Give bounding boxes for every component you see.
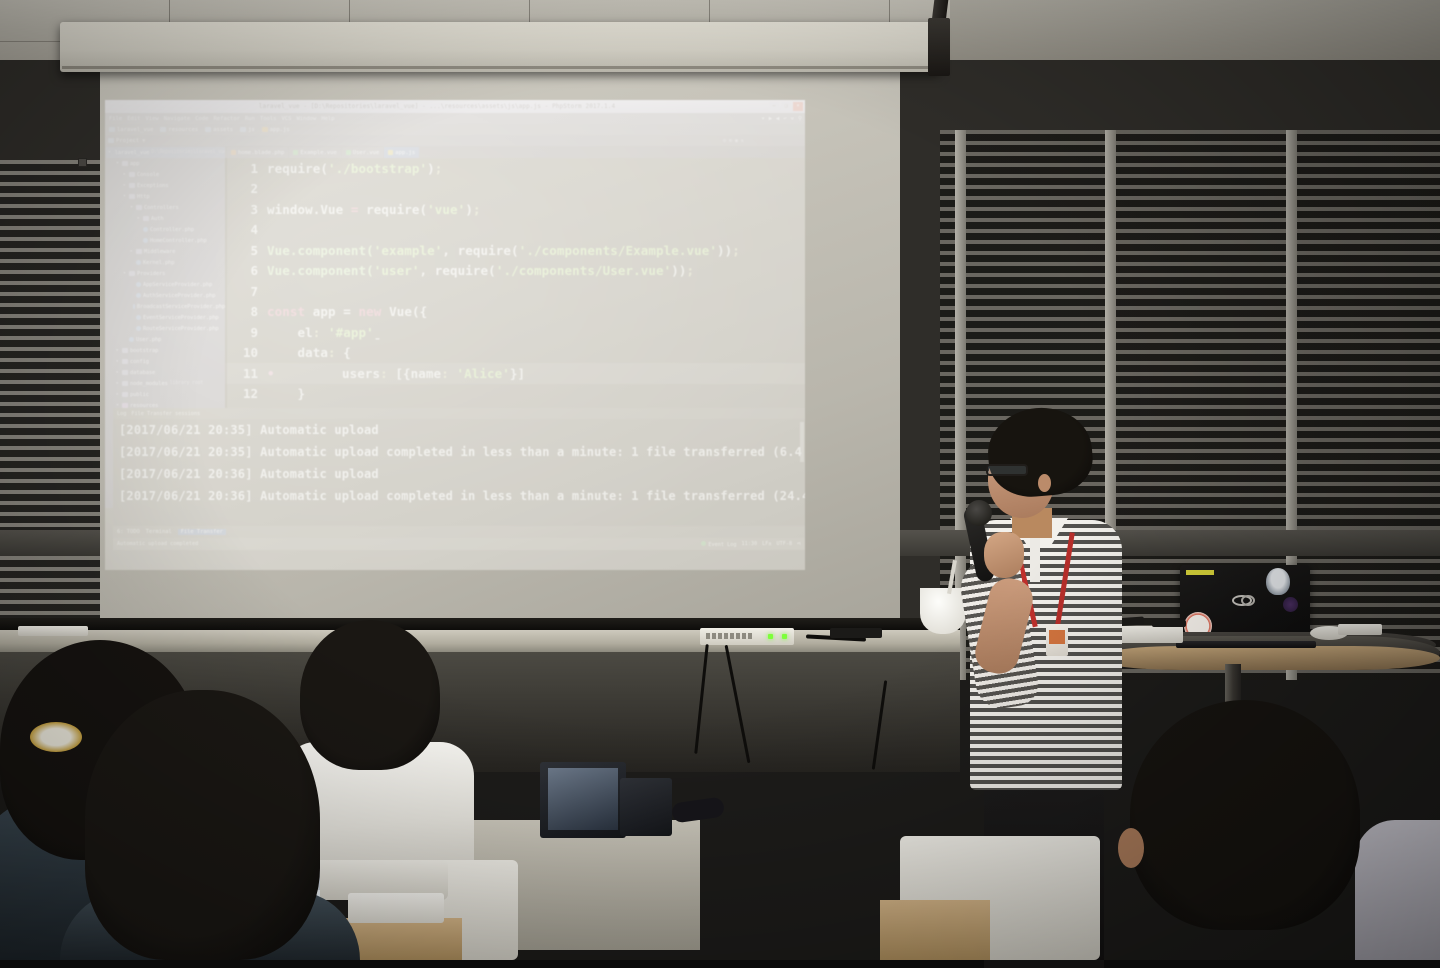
line-number: 12 <box>225 386 267 401</box>
toolbar-crumb-label: laravel_vue <box>117 127 153 133</box>
housing-button <box>78 158 87 167</box>
log-line-3: [2017/06/21 20:36] Automatic upload <box>113 463 805 485</box>
tree-node-label: bootstrap <box>130 348 158 354</box>
sort-icon[interactable]: ⇅ <box>741 138 744 144</box>
ide-file-transfer-log[interactable]: Log File Transfer sessions [2017/06/21 2… <box>113 408 805 538</box>
log-lines: [2017/06/21 20:35] Automatic upload[2017… <box>113 419 805 507</box>
php-file-icon <box>133 304 135 309</box>
log-tab-log[interactable]: Log <box>117 411 126 417</box>
chevron-icon[interactable]: ▸ <box>115 381 120 386</box>
presenter-placket <box>1030 536 1040 582</box>
tree-node-database[interactable]: ▸database <box>106 367 225 378</box>
menu-navigate[interactable]: Navigate <box>164 116 191 122</box>
tree-node-user-php[interactable]: User.php <box>106 334 225 345</box>
folder-icon <box>129 271 135 276</box>
audience-3-hair <box>300 620 440 770</box>
editor-tab-label: Example.vue <box>300 150 336 156</box>
folder-icon <box>122 381 128 386</box>
vue-file-icon <box>346 150 351 155</box>
chevron-icon[interactable]: ▾ <box>108 150 111 155</box>
blade-file-icon <box>231 150 236 155</box>
foreground-glasses <box>671 796 725 823</box>
white-desk-box <box>348 893 444 923</box>
change-marker-icon: • <box>267 366 281 381</box>
chevron-icon[interactable]: ▾ <box>129 205 134 210</box>
purple-circle-sticker <box>1283 597 1298 612</box>
editor-tab-app-js[interactable]: app.js <box>384 147 419 158</box>
desk-right <box>880 900 990 960</box>
toolbar-crumb-label: js <box>248 127 255 133</box>
tree-node-broadcastserviceprovider-php[interactable]: BroadcastServiceProvider.php <box>106 301 225 312</box>
microphone-head <box>966 500 992 526</box>
chevron-icon[interactable]: ▸ <box>115 348 120 353</box>
ide-project-toolbar[interactable]: Project ▼ ⊖ ⊕ ◉ ⇅ <box>105 135 805 146</box>
code-line-1[interactable]: 1require('./bootstrap'); <box>225 158 805 179</box>
phpstorm-window[interactable]: laravel_vue - [D:\Repositories\laravel_v… <box>105 100 805 570</box>
toolbar-crumb-label: resources <box>168 127 198 133</box>
audience-1-hair-scrunchie <box>30 722 82 752</box>
audience-5-shoulder <box>1355 820 1440 960</box>
folder-icon <box>122 392 128 397</box>
chevron-icon[interactable]: ▸ <box>136 216 141 221</box>
tree-node-controllers[interactable]: ▾Controllers <box>106 202 225 213</box>
code-line-7[interactable]: 7 <box>225 281 805 302</box>
target-icon[interactable]: ◉ <box>735 138 738 144</box>
tree-node-label: Exceptions <box>137 183 168 189</box>
presenter-badge-band <box>1049 630 1065 644</box>
php-file-icon <box>143 227 148 232</box>
settings-icon[interactable]: ⚒ <box>791 116 794 122</box>
event-log-icon <box>701 541 706 546</box>
php-file-icon <box>136 326 141 331</box>
folder-icon <box>136 249 142 254</box>
chevron-icon[interactable]: ▸ <box>115 392 120 397</box>
folder-icon <box>122 161 128 166</box>
tree-node-label: BroadcastServiceProvider.php <box>137 304 225 310</box>
js-file-icon <box>262 127 268 132</box>
tree-node-http[interactable]: ▾Http <box>106 191 225 202</box>
tree-node-bootstrap[interactable]: ▸bootstrap <box>106 345 225 356</box>
code-line-3[interactable]: 3window.Vue = require('vue'); <box>225 199 805 220</box>
project-icon <box>108 138 114 143</box>
ide-toolbar[interactable]: laravel_vue resources assets js app.js <box>105 124 805 135</box>
line-number: 9 <box>225 325 267 340</box>
projector-screen-housing <box>60 22 940 72</box>
ide-status-bar[interactable]: Automatic upload completed Event Log 11:… <box>113 538 805 550</box>
line-number: 1 <box>225 161 267 176</box>
editor-tab-example-vue[interactable]: Example.vue <box>289 147 340 158</box>
code-line-10[interactable]: 10 data: { <box>225 343 805 364</box>
editor-left-ruler <box>225 158 227 408</box>
editor-tab-user-vue[interactable]: User.vue <box>342 147 384 158</box>
tree-node-exceptions[interactable]: ▸Exceptions <box>106 180 225 191</box>
tool-tab-todo[interactable]: 6: TODO <box>117 529 140 535</box>
laptop-yellow-sticker <box>1186 570 1214 575</box>
folder-icon <box>122 370 128 375</box>
tree-node-label: Controller.php <box>150 227 194 233</box>
window-blinds-left <box>0 160 110 680</box>
log-scrollbar[interactable] <box>800 422 804 462</box>
search-icon[interactable]: ⚲ <box>798 116 802 122</box>
menu-vcs[interactable]: VCS <box>282 116 292 122</box>
audience-4-ear <box>1118 828 1144 868</box>
code-text: users: [{name: 'Alice'}] <box>281 366 525 381</box>
chevron-icon[interactable]: ▾ <box>122 194 127 199</box>
toolbar-crumb-label: assets <box>213 127 233 133</box>
presenter-glasses <box>986 464 1028 476</box>
code-text: el: '#app'ˍ <box>267 325 381 340</box>
table-paper <box>1338 624 1382 635</box>
status-message: Automatic upload completed <box>117 541 701 547</box>
code-text: Vue.component('example', require('./comp… <box>267 243 740 258</box>
toolbar-crumb-resources[interactable]: resources <box>160 127 198 133</box>
code-text: data: { <box>267 345 351 360</box>
tree-node-label: app <box>130 161 139 167</box>
folder-icon <box>122 359 128 364</box>
tree-node-label: Middleware <box>144 249 175 255</box>
run-icon[interactable]: ▶ <box>769 116 772 122</box>
line-number: 11 <box>225 366 267 381</box>
tree-node-note: library root <box>170 381 203 386</box>
toolbar-crumb-label: app.js <box>270 127 290 133</box>
menu-code[interactable]: Code <box>195 116 208 122</box>
audience-2-hair <box>85 690 320 960</box>
tree-node-routeserviceprovider-php[interactable]: RouteServiceProvider.php <box>106 323 225 334</box>
menu-tools[interactable]: Tools <box>260 116 277 122</box>
presenter-hand <box>984 532 1024 578</box>
folder-icon <box>205 127 211 132</box>
tree-node-label: public <box>130 392 149 398</box>
event-log-button[interactable]: Event Log <box>701 541 736 548</box>
chevron-icon[interactable]: ▸ <box>122 183 127 188</box>
log-tab-sessions[interactable]: File Transfer sessions <box>131 411 200 417</box>
folder-icon <box>129 172 135 177</box>
tool-tab-file-transfer[interactable]: File Transfer <box>178 529 226 535</box>
tree-node-appserviceprovider-php[interactable]: AppServiceProvider.php <box>106 279 225 290</box>
toolbar-crumb-file[interactable]: app.js <box>262 127 290 133</box>
php-file-icon <box>143 238 148 243</box>
code-line-11[interactable]: 11• users: [{name: 'Alice'}] <box>225 363 805 384</box>
editor-tab-label: User.vue <box>353 150 380 156</box>
menu-file[interactable]: File <box>109 116 122 122</box>
php-file-icon <box>136 315 141 320</box>
toolbar-crumb-project[interactable]: laravel_vue <box>109 127 153 133</box>
code-line-12[interactable]: 12 } <box>225 384 805 405</box>
code-line-6[interactable]: 6Vue.component('user', require('./compon… <box>225 261 805 282</box>
tree-node-label: AppServiceProvider.php <box>143 282 212 288</box>
audience-4-hair <box>1130 700 1360 930</box>
chevron-icon[interactable]: ▸ <box>122 172 127 177</box>
housing-end-cap <box>928 18 950 76</box>
switch-led-1 <box>768 634 773 639</box>
chevron-icon[interactable]: ▸ <box>115 370 120 375</box>
tree-node-label: Kernel.php <box>143 260 174 266</box>
project-panel-title[interactable]: Project <box>108 138 139 144</box>
folder-icon <box>143 216 149 221</box>
tree-node-label: database <box>130 370 155 376</box>
audience-laptop-1-screen <box>548 768 618 830</box>
collapse-all-icon[interactable]: ⊖ <box>723 138 726 144</box>
tree-node-label: AuthServiceProvider.php <box>143 293 215 299</box>
ide-code-editor[interactable]: 1require('./bootstrap');23window.Vue = r… <box>225 158 805 408</box>
counter-item-left <box>18 626 88 636</box>
tree-node-kernel-php[interactable]: Kernel.php <box>106 257 225 268</box>
tree-node-label: HomeController.php <box>150 238 207 244</box>
folder-icon <box>122 348 128 353</box>
tree-node-laravel-vue[interactable]: ▾laravel_vue D:\Repositories\laravel_vue <box>106 147 225 158</box>
code-text: require('./bootstrap'); <box>267 161 442 176</box>
line-separator[interactable]: LF± <box>762 541 771 548</box>
menu-run[interactable]: Run <box>245 116 255 122</box>
line-number: 7 <box>225 284 267 299</box>
folder-icon <box>240 127 246 132</box>
folder-icon <box>160 127 166 132</box>
tree-node-label: node_modules <box>130 381 168 387</box>
lock-icon[interactable]: ન <box>797 541 801 548</box>
editor-tab-label: app.js <box>395 150 415 156</box>
line-number: 4 <box>225 222 267 237</box>
tree-node-path: D:\Repositories\laravel_vue <box>151 150 225 155</box>
ide-window-title: laravel_vue - [D:\Repositories\laravel_v… <box>105 103 769 110</box>
toolbar-crumb-assets[interactable]: assets <box>205 127 233 133</box>
tree-node-app[interactable]: ▾app <box>106 158 225 169</box>
ide-menubar[interactable]: File Edit View Navigate Code Refactor Ru… <box>105 113 805 124</box>
tree-node-node-modules[interactable]: ▸node_modules library root <box>106 378 225 389</box>
tree-node-label: Http <box>137 194 150 200</box>
line-number: 8 <box>225 304 267 319</box>
chevron-icon[interactable]: ▾ <box>115 161 120 166</box>
editor-tab-label: home.blade.php <box>238 150 284 156</box>
menu-window[interactable]: Window <box>296 116 316 122</box>
close-icon[interactable]: × <box>793 102 803 111</box>
line-number: 2 <box>225 181 267 196</box>
tree-node-public[interactable]: ▸public <box>106 389 225 400</box>
tree-node-middleware[interactable]: ▸Middleware <box>106 246 225 257</box>
line-number: 10 <box>225 345 267 360</box>
housing-seam <box>62 66 938 69</box>
menu-view[interactable]: View <box>146 116 159 122</box>
counter-device <box>830 628 882 638</box>
tree-node-label: config <box>130 359 149 365</box>
menu-edit[interactable]: Edit <box>127 116 140 122</box>
ide-titlebar: laravel_vue - [D:\Repositories\laravel_v… <box>105 100 805 113</box>
code-text: } <box>267 386 305 401</box>
line-number: 5 <box>225 243 267 258</box>
tree-node-console[interactable]: ▸Console <box>106 169 225 180</box>
tree-node-label: Auth <box>151 216 164 222</box>
tree-node-label: Console <box>137 172 159 178</box>
ide-menubar-right-icons[interactable]: ▾ ▶ ◀ ↩ ⚒ ⚲ <box>761 113 802 124</box>
menu-help[interactable]: Help <box>321 116 334 122</box>
editor-tab-home-blade-php[interactable]: home.blade.php <box>227 147 288 158</box>
php-file-icon <box>136 260 141 265</box>
line-number: 6 <box>225 263 267 278</box>
tool-tab-terminal[interactable]: Terminal <box>146 529 172 535</box>
js-file-icon <box>388 150 393 155</box>
vue-file-icon <box>293 150 298 155</box>
folder-icon <box>129 183 135 188</box>
tree-node-authserviceprovider-php[interactable]: AuthServiceProvider.php <box>106 290 225 301</box>
log-tabbar[interactable]: Log File Transfer sessions <box>113 408 805 419</box>
switch-ports <box>706 633 752 639</box>
caret-position[interactable]: 11:30 <box>742 541 758 548</box>
php-file-icon <box>136 282 141 287</box>
tree-node-eventserviceprovider-php[interactable]: EventServiceProvider.php <box>106 312 225 323</box>
audience-laptop-2 <box>620 778 672 836</box>
code-line-8[interactable]: 8const app = new Vue({ <box>225 302 805 323</box>
maximize-icon[interactable]: ❑ <box>781 102 791 111</box>
tree-node-homecontroller-php[interactable]: HomeController.php <box>106 235 225 246</box>
log-line-1: [2017/06/21 20:35] Automatic upload <box>113 419 805 441</box>
code-line-2[interactable]: 2 <box>225 179 805 200</box>
minimize-icon[interactable]: – <box>769 102 779 111</box>
folder-icon <box>109 127 115 132</box>
presenter-laptop-base <box>1176 641 1316 648</box>
line-number: 3 <box>225 202 267 217</box>
code-line-5[interactable]: 5Vue.component('example', require('./com… <box>225 240 805 261</box>
folder-icon <box>136 205 142 210</box>
switch-led-2 <box>782 634 787 639</box>
chevron-icon[interactable]: ▾ <box>122 271 127 276</box>
tree-node-label: Controllers <box>144 205 179 211</box>
code-line-9[interactable]: 9 el: '#app'ˍ <box>225 322 805 343</box>
php-file-icon <box>136 293 141 298</box>
code-text: const app = new Vue({ <box>267 304 427 319</box>
code-line-4[interactable]: 4 <box>225 220 805 241</box>
back-icon[interactable]: ◀ <box>776 116 779 122</box>
file-encoding[interactable]: UTF-8 <box>777 541 793 548</box>
code-text: window.Vue = require('vue'); <box>267 202 481 217</box>
tree-node-config[interactable]: ▸config <box>106 356 225 367</box>
infinity-sticker-right <box>1241 595 1255 606</box>
ide-editor-tabs[interactable]: home.blade.phpExample.vueUser.vueapp.js <box>225 146 805 158</box>
tree-node-label: User.php <box>136 337 161 343</box>
tree-node-auth[interactable]: ▸Auth <box>106 213 225 224</box>
code-text: Vue.component('user', require('./compone… <box>267 263 694 278</box>
toolbar-crumb-js[interactable]: js <box>240 127 255 133</box>
octocat-sticker <box>1266 568 1290 595</box>
tree-node-label: RouteServiceProvider.php <box>143 326 219 332</box>
chevron-icon[interactable]: ▸ <box>115 359 120 364</box>
folder-icon <box>129 194 135 199</box>
dropdown-icon[interactable]: ▾ <box>761 116 764 122</box>
chevron-icon[interactable]: ▸ <box>129 249 134 254</box>
tree-node-providers[interactable]: ▾Providers <box>106 268 225 279</box>
log-line-4: [2017/06/21 20:36] Automatic upload comp… <box>113 485 805 507</box>
nav-dropdown-icon[interactable]: ▼ <box>142 138 145 144</box>
window-controls[interactable]: – ❑ × <box>769 102 805 111</box>
expand-all-icon[interactable]: ⊕ <box>729 138 732 144</box>
undo-icon[interactable]: ↩ <box>783 116 786 122</box>
tree-node-label: Providers <box>137 271 165 277</box>
scene-root: laravel_vue - [D:\Repositories\laravel_v… <box>0 0 1440 960</box>
tree-node-label: EventServiceProvider.php <box>143 315 219 321</box>
php-file-icon <box>129 337 134 342</box>
presenter-ear <box>1038 474 1051 492</box>
counter-top <box>0 630 960 652</box>
tree-node-controller-php[interactable]: Controller.php <box>106 224 225 235</box>
menu-refactor[interactable]: Refactor <box>214 116 241 122</box>
log-line-2: [2017/06/21 20:35] Automatic upload comp… <box>113 441 805 463</box>
tree-node-label: laravel_vue <box>115 150 150 156</box>
status-right-group[interactable]: Event Log 11:30 LF± UTF-8 ન <box>701 541 801 548</box>
ide-tool-window-bar[interactable]: 6: TODO Terminal File Transfer <box>113 526 805 538</box>
